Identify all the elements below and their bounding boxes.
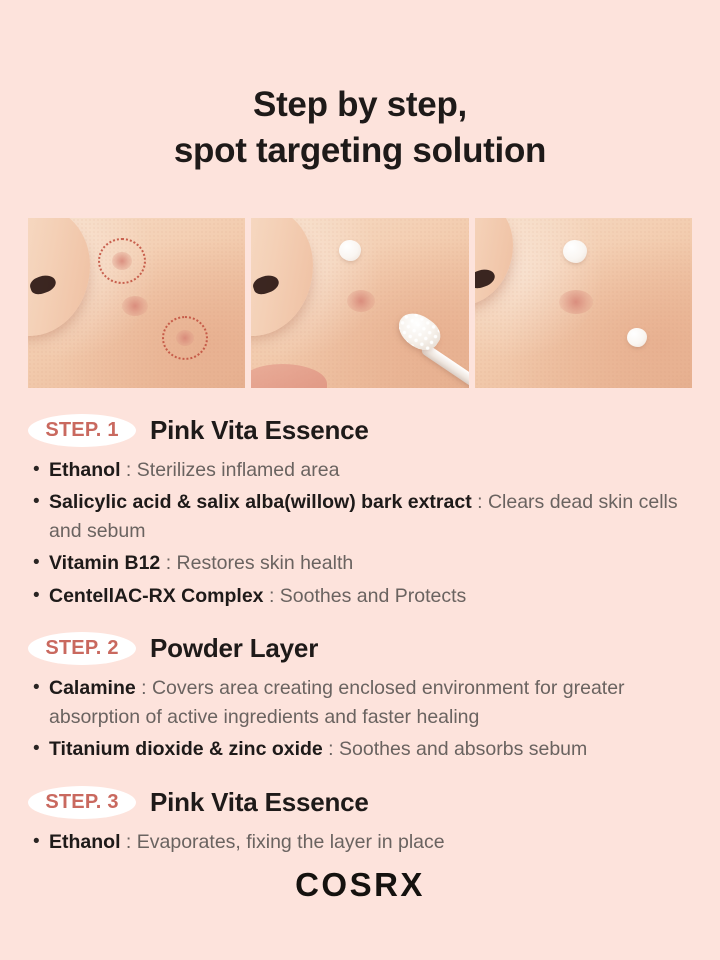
blemish-spot bbox=[559, 290, 593, 314]
steps-section: STEP. 1 Pink Vita Essence Ethanol : Ster… bbox=[28, 414, 696, 878]
ingredient-name: CentellAC-RX Complex bbox=[49, 585, 264, 607]
product-dab bbox=[627, 328, 647, 347]
photo-step-3-dried-spots bbox=[475, 218, 692, 388]
ingredient-description: Restores skin health bbox=[177, 552, 354, 574]
page-title-line-2: spot targeting solution bbox=[0, 128, 720, 174]
ingredient-name: Titanium dioxide & zinc oxide bbox=[49, 738, 323, 760]
ingredient-separator: : bbox=[136, 677, 152, 699]
ingredient-name: Calamine bbox=[49, 677, 136, 699]
ingredient-item: CentellAC-RX Complex : Soothes and Prote… bbox=[32, 582, 696, 610]
ingredient-separator: : bbox=[160, 552, 176, 574]
marker-ring-icon bbox=[162, 316, 208, 360]
ingredient-list-3: Ethanol : Evaporates, fixing the layer i… bbox=[28, 828, 696, 856]
step-badge-3: STEP. 3 bbox=[28, 786, 136, 819]
ingredient-item: Ethanol : Evaporates, fixing the layer i… bbox=[32, 828, 696, 856]
ingredient-description: Soothes and Protects bbox=[280, 585, 466, 607]
page-title-line-1: Step by step, bbox=[0, 82, 720, 128]
ingredient-name: Salicylic acid & salix alba(willow) bark… bbox=[49, 491, 472, 513]
ingredient-list-1: Ethanol : Sterilizes inflamed area Salic… bbox=[28, 456, 696, 610]
photo-step-2-applying-essence bbox=[251, 218, 468, 388]
ingredient-description: Soothes and absorbs sebum bbox=[339, 738, 587, 760]
step-badge-1: STEP. 1 bbox=[28, 414, 136, 447]
step-header: STEP. 3 Pink Vita Essence bbox=[28, 786, 696, 819]
marker-ring-icon bbox=[98, 238, 146, 284]
product-dab bbox=[563, 240, 587, 263]
ingredient-item: Ethanol : Sterilizes inflamed area bbox=[32, 456, 696, 484]
ingredient-item: Salicylic acid & salix alba(willow) bark… bbox=[32, 488, 696, 545]
step-header: STEP. 2 Powder Layer bbox=[28, 632, 696, 665]
step-header: STEP. 1 Pink Vita Essence bbox=[28, 414, 696, 447]
ingredient-separator: : bbox=[264, 585, 280, 607]
step-block-2: STEP. 2 Powder Layer Calamine : Covers a… bbox=[28, 632, 696, 763]
ingredient-item: Calamine : Covers area creating enclosed… bbox=[32, 674, 696, 731]
ingredient-name: Vitamin B12 bbox=[49, 552, 160, 574]
ingredient-list-2: Calamine : Covers area creating enclosed… bbox=[28, 674, 696, 763]
ingredient-separator: : bbox=[121, 459, 137, 481]
ingredient-item: Vitamin B12 : Restores skin health bbox=[32, 549, 696, 577]
step-block-1: STEP. 1 Pink Vita Essence Ethanol : Ster… bbox=[28, 414, 696, 610]
step-title-3: Pink Vita Essence bbox=[150, 787, 369, 818]
step-title-1: Pink Vita Essence bbox=[150, 415, 369, 446]
ingredient-description: Sterilizes inflamed area bbox=[137, 459, 340, 481]
ingredient-separator: : bbox=[472, 491, 488, 513]
page-title: Step by step, spot targeting solution bbox=[0, 0, 720, 174]
photo-strip bbox=[28, 218, 692, 388]
step-block-3: STEP. 3 Pink Vita Essence Ethanol : Evap… bbox=[28, 786, 696, 856]
ingredient-name: Ethanol bbox=[49, 831, 121, 853]
ingredient-separator: : bbox=[323, 738, 339, 760]
ingredient-item: Titanium dioxide & zinc oxide : Soothes … bbox=[32, 735, 696, 763]
photo-step-1-marked-blemishes bbox=[28, 218, 245, 388]
ingredient-description: Evaporates, fixing the layer in place bbox=[137, 831, 445, 853]
step-title-2: Powder Layer bbox=[150, 633, 318, 664]
brand-logo: COSRX bbox=[0, 866, 720, 904]
blemish-spot bbox=[122, 296, 148, 316]
ingredient-name: Ethanol bbox=[49, 459, 121, 481]
ingredient-separator: : bbox=[121, 831, 137, 853]
step-badge-2: STEP. 2 bbox=[28, 632, 136, 665]
